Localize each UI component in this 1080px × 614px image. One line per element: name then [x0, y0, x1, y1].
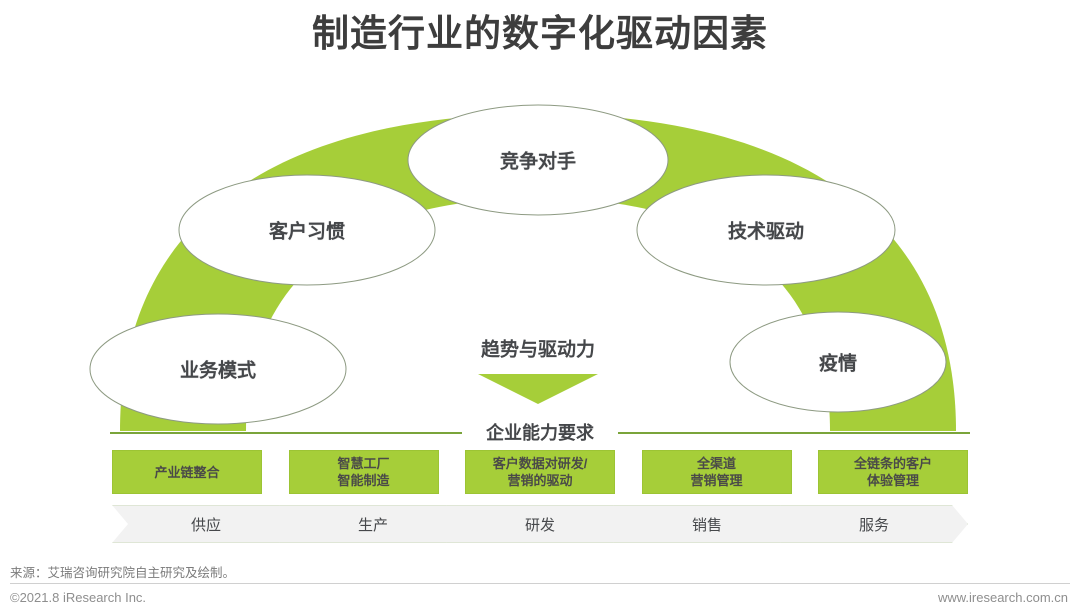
capability-box-smart-factory[interactable]: 智慧工厂 智能制造 — [289, 450, 439, 494]
value-chain-stage-rnd[interactable]: 研发 — [446, 505, 634, 543]
capability-box-full-chain-experience[interactable]: 全链条的客户 体验管理 — [818, 450, 968, 494]
drivers-diagram: 业务模式 客户习惯 竞争对手 技术驱动 疫情 趋势与驱动力 — [0, 86, 1080, 446]
capability-line: 营销管理 — [690, 473, 742, 488]
capability-box-customer-data-drive[interactable]: 客户数据对研发/ 营销的驱动 — [465, 450, 615, 494]
divider-line-right — [618, 432, 970, 434]
divider-line-left — [110, 432, 462, 434]
capability-line: 智慧工厂 — [337, 456, 389, 471]
capability-line: 体验管理 — [867, 473, 919, 488]
capability-box-supply-chain-integration[interactable]: 产业链整合 — [112, 450, 262, 494]
capability-line: 产业链整合 — [154, 465, 219, 480]
capability-box-row: 产业链整合 智慧工厂 智能制造 客户数据对研发/ 营销的驱动 全渠道 营销管理 … — [112, 450, 968, 494]
value-chain-stage-service[interactable]: 服务 — [780, 505, 968, 543]
capability-line: 智能制造 — [337, 473, 389, 488]
copyright-text: ©2021.8 iResearch Inc. — [10, 590, 146, 605]
value-chain-stage-production[interactable]: 生产 — [279, 505, 467, 543]
infographic-page: 制造行业的数字化驱动因素 — [0, 0, 1080, 614]
diagram-svg — [0, 86, 1080, 446]
value-chain-row: 供应 生产 研发 销售 服务 — [112, 505, 968, 543]
divider-caption: 企业能力要求 — [472, 421, 608, 445]
footer-divider — [10, 583, 1070, 584]
driver-label-tech-driven: 技术驱动 — [728, 217, 804, 244]
driver-label-competitor: 竞争对手 — [500, 147, 576, 174]
value-chain-stage-supply[interactable]: 供应 — [112, 505, 300, 543]
capability-line: 全渠道 — [697, 456, 736, 471]
capability-line: 营销的驱动 — [507, 473, 572, 488]
center-label-trends: 趋势与驱动力 — [481, 335, 595, 362]
capability-box-omnichannel-marketing[interactable]: 全渠道 营销管理 — [642, 450, 792, 494]
source-note: 来源：艾瑞咨询研究院自主研究及绘制。 — [10, 562, 235, 581]
website-url: www.iresearch.com.cn — [938, 590, 1068, 605]
driver-label-pandemic: 疫情 — [819, 349, 857, 376]
value-chain-stage-sales[interactable]: 销售 — [613, 505, 801, 543]
capability-line: 客户数据对研发/ — [493, 456, 588, 471]
driver-label-business-model: 业务模式 — [180, 356, 256, 383]
capability-line: 全链条的客户 — [854, 456, 932, 471]
capability-divider: 企业能力要求 — [110, 421, 970, 445]
page-title: 制造行业的数字化驱动因素 — [0, 8, 1080, 60]
driver-label-customer-habit: 客户习惯 — [269, 217, 345, 244]
